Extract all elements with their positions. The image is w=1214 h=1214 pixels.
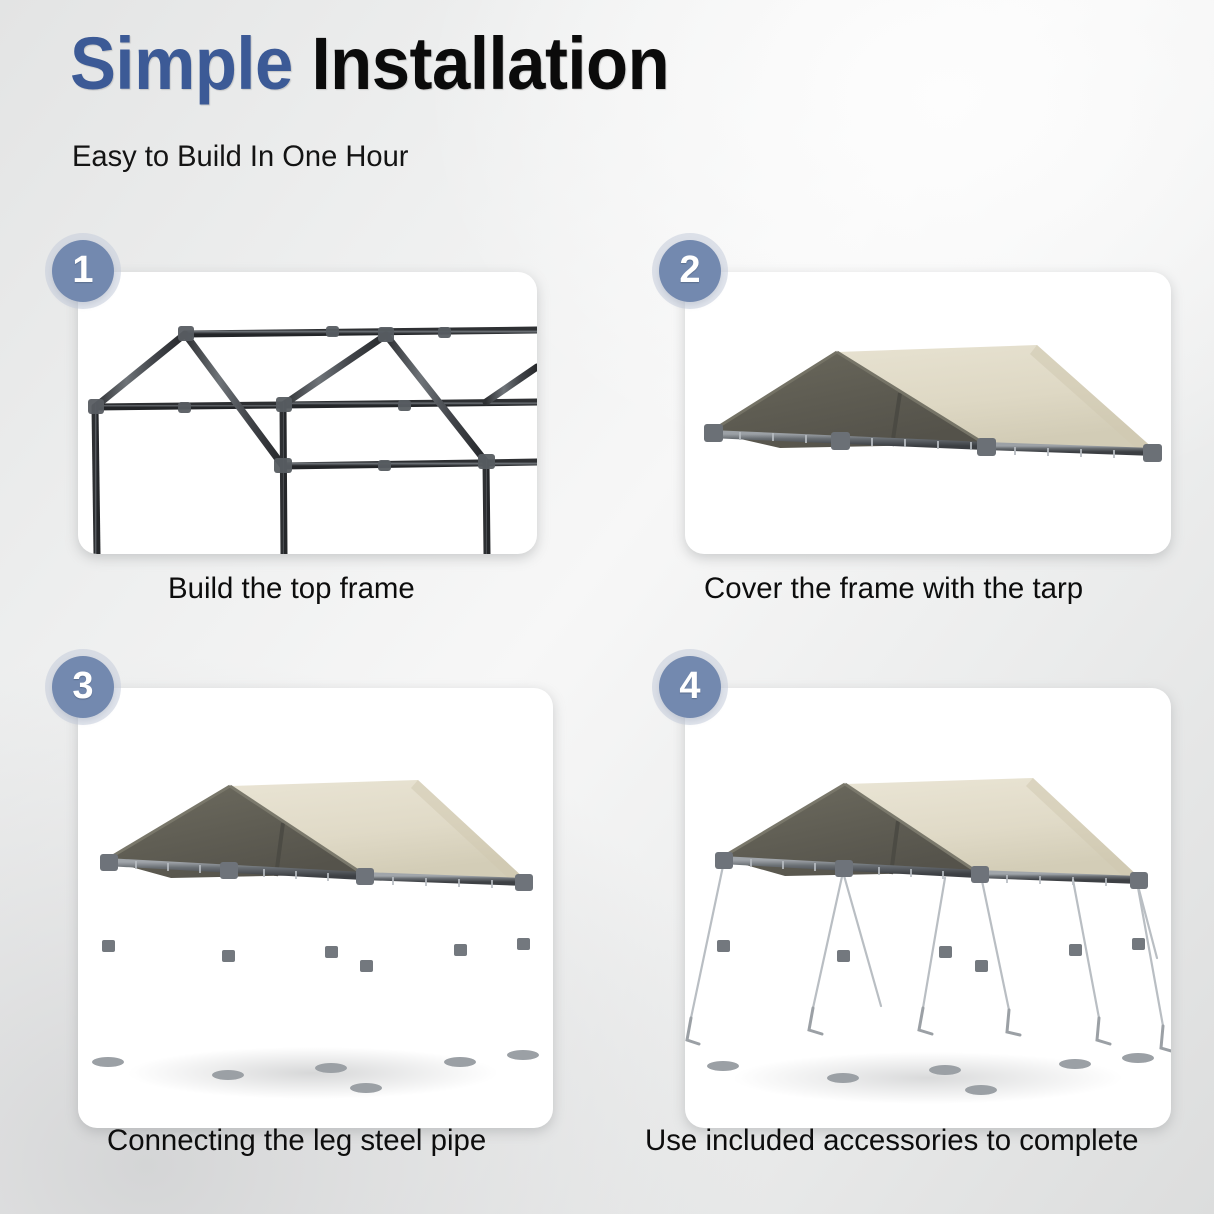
- step-number-badge-3: 3: [52, 656, 114, 718]
- step-number-badge-1: 1: [52, 240, 114, 302]
- step-illustration-card-1: [78, 272, 537, 554]
- step-caption-2: Cover the frame with the tarp: [704, 572, 1083, 606]
- step-number-badge-2: 2: [659, 240, 721, 302]
- step-number-badge-4: 4: [659, 656, 721, 718]
- page-title: Simple Installation: [70, 27, 669, 101]
- carport-icon: [78, 688, 553, 1128]
- step-illustration-card-3: [78, 688, 553, 1128]
- page-subtitle: Easy to Build In One Hour: [72, 140, 408, 174]
- step-number-label: 4: [679, 667, 700, 705]
- carport-anchored-icon: [685, 688, 1171, 1128]
- steel-frame-icon: [78, 272, 537, 554]
- step-caption-3: Connecting the leg steel pipe: [107, 1124, 486, 1158]
- step-caption-4: Use included accessories to complete: [645, 1124, 1139, 1158]
- page-title-rest: Installation: [312, 22, 670, 105]
- step-caption-1: Build the top frame: [168, 572, 415, 606]
- step-number-label: 3: [72, 667, 93, 705]
- tarp-roof-icon: [685, 272, 1171, 554]
- step-illustration-card-2: [685, 272, 1171, 554]
- step-illustration-card-4: [685, 688, 1171, 1128]
- step-number-label: 1: [72, 251, 93, 289]
- step-number-label: 2: [679, 251, 700, 289]
- page-title-highlight: Simple: [70, 22, 293, 105]
